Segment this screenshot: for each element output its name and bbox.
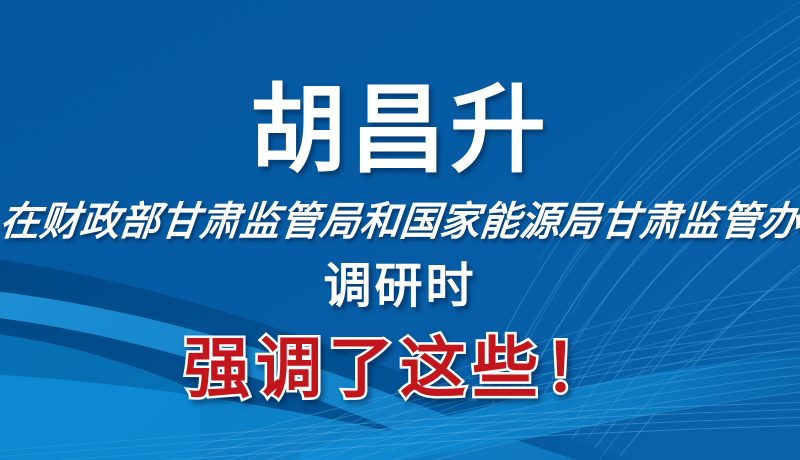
banner-text-block: 胡昌升 在财政部甘肃监管局和国家能源局甘肃监管办 调研时 强调了这些！ (0, 0, 800, 460)
occasion-line: 调研时 (0, 258, 800, 314)
context-line: 在财政部甘肃监管局和国家能源局甘肃监管办 (0, 198, 800, 246)
news-banner: 胡昌升 在财政部甘肃监管局和国家能源局甘肃监管办 调研时 强调了这些！ (0, 0, 800, 460)
headline-name: 胡昌升 (0, 78, 800, 182)
emphasis-line: 强调了这些！ (0, 330, 800, 408)
